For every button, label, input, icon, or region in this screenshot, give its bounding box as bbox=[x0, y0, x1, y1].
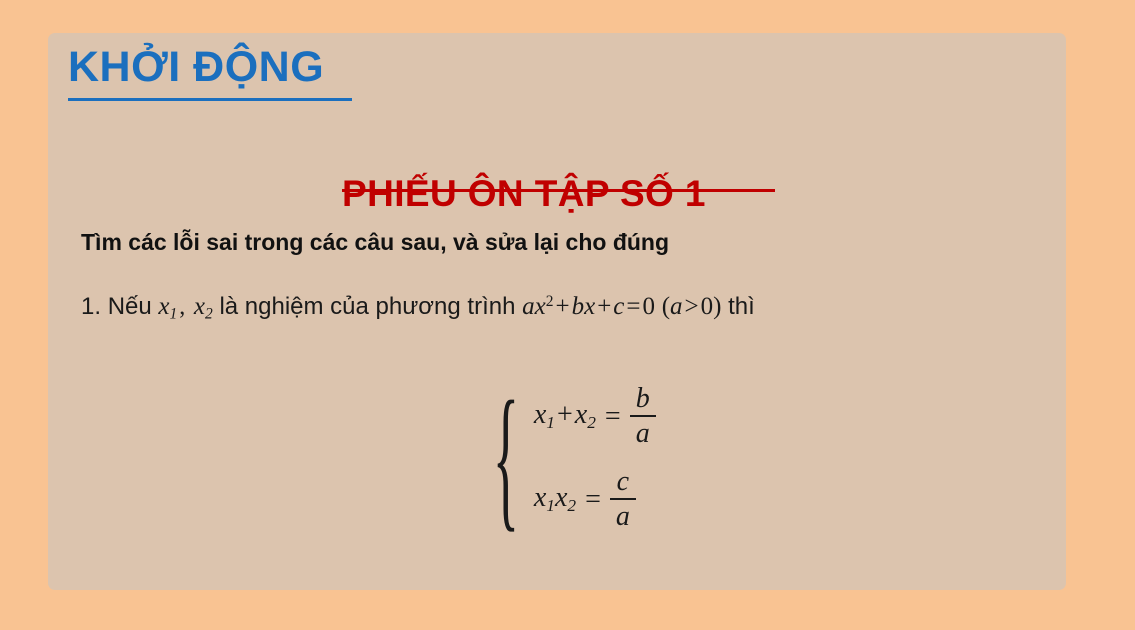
problem-lead: Nếu bbox=[108, 293, 152, 320]
sum-left-hand-side: x1+x2 bbox=[534, 401, 596, 431]
slide-canvas: KHỞI ĐỘNG PHIẾU ÔN TẬP SỐ 1 Tìm các lỗi … bbox=[0, 0, 1135, 630]
quadratic-equation: ax2+bx+c=0 bbox=[522, 293, 655, 320]
equation-product-of-roots: x1x2 = c a bbox=[534, 468, 656, 531]
equation-list: x1+x2 = b a x1x2 = c a bbox=[534, 385, 656, 531]
product-equals-sign: = bbox=[576, 486, 610, 514]
fraction-denominator: a bbox=[631, 417, 655, 448]
fraction-b-over-a: b a bbox=[630, 385, 656, 448]
section-title: KHỞI ĐỘNG bbox=[68, 46, 324, 89]
fraction-c-over-a: c a bbox=[610, 468, 636, 531]
system-brace: { bbox=[493, 378, 519, 538]
equation-system: { x1+x2 = b a x1x2 = c bbox=[488, 385, 656, 531]
worksheet-title-underline bbox=[342, 189, 775, 192]
variable-x1: x1 bbox=[158, 293, 177, 320]
problem-comma: , bbox=[177, 294, 187, 320]
instruction-text: Tìm các lỗi sai trong các câu sau, và sử… bbox=[81, 229, 669, 257]
problem-tail: thì bbox=[728, 293, 755, 320]
problem-statement: 1. Nếu x1, x2 là nghiệm của phương trình… bbox=[81, 291, 755, 324]
fraction-numerator: b bbox=[631, 385, 655, 415]
problem-number: 1. bbox=[81, 293, 101, 320]
worksheet-title: PHIẾU ÔN TẬP SỐ 1 bbox=[342, 175, 706, 212]
problem-mid-text: là nghiệm của phương trình bbox=[219, 293, 515, 320]
variable-x2: x2 bbox=[194, 293, 213, 320]
fraction-numerator: c bbox=[612, 468, 634, 498]
fraction-denominator: a bbox=[611, 500, 635, 531]
content-panel: KHỞI ĐỘNG PHIẾU ÔN TẬP SỐ 1 Tìm các lỗi … bbox=[48, 33, 1066, 590]
equation-sum-of-roots: x1+x2 = b a bbox=[534, 385, 656, 448]
sum-equals-sign: = bbox=[596, 403, 630, 431]
condition-a-positive: (a>0) bbox=[662, 293, 722, 320]
section-title-underline bbox=[68, 98, 352, 101]
product-left-hand-side: x1x2 bbox=[534, 484, 576, 514]
